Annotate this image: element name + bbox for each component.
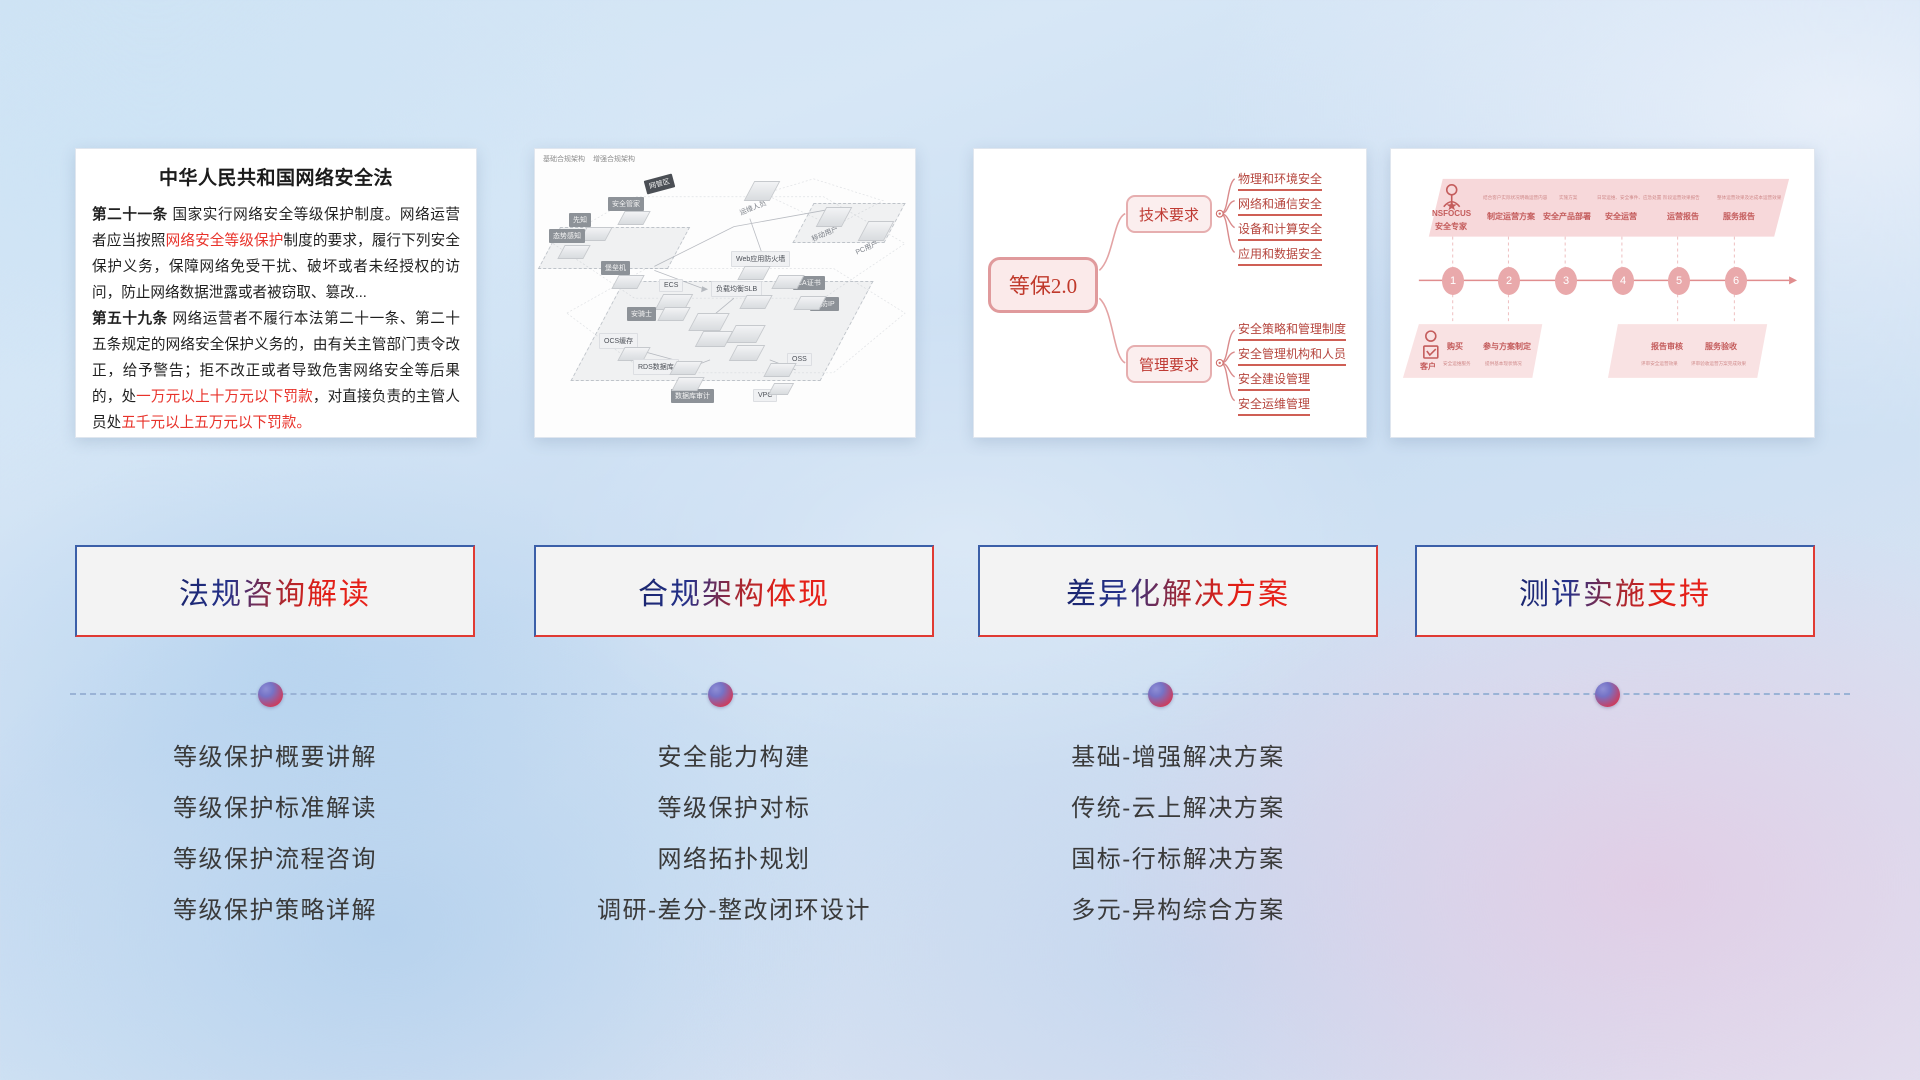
label-text-regulation-consulting: 法规咨询解读 — [179, 569, 371, 613]
detail-column-differentiated-solution: 基础-增强解决方案 传统-云上解决方案 国标-行标解决方案 多元-异构综合方案 — [978, 732, 1378, 936]
process-node-2: 2 — [1498, 267, 1520, 295]
mindmap-leaf-network-security: 网络和通信安全 — [1238, 196, 1322, 216]
process-step4-sub: 阶段运营效果报告 — [1663, 195, 1700, 201]
process-node-3: 3 — [1555, 267, 1577, 295]
arch-node-态势感知: 态势感知 — [549, 229, 585, 243]
list-item: 基础-增强解决方案 — [978, 732, 1378, 783]
mindmap-leaf-physical-security: 物理和环境安全 — [1238, 171, 1322, 191]
list-item: 安全能力构建 — [534, 732, 934, 783]
article-59-label: 第五十九条 — [92, 311, 168, 327]
article-21-label: 第二十一条 — [92, 207, 168, 223]
process-node-1: 1 — [1442, 267, 1464, 295]
timeline-track — [70, 693, 1850, 697]
list-item: 等级保护策略详解 — [75, 885, 475, 936]
list-item: 多元-异构综合方案 — [978, 885, 1378, 936]
label-box-compliance-architecture[interactable]: 合规架构体现 — [534, 545, 934, 637]
mindmap-root: 等保2.0 — [988, 257, 1098, 313]
category-label-row: 法规咨询解读 合规架构体现 差异化解决方案 测评实施支持 — [0, 545, 1920, 637]
label-text-compliance-architecture: 合规架构体现 — [638, 569, 830, 613]
timeline-dot-1[interactable] — [258, 682, 283, 707]
detail-column-regulation-consulting: 等级保护概要讲解 等级保护标准解读 等级保护流程咨询 等级保护策略详解 — [75, 732, 475, 936]
card-mlps-mindmap[interactable]: 等保2.0 技术要求 物理和环境安全 网络和通信安全 设备和计算安全 应用和数据… — [973, 148, 1367, 438]
process-step1-title: 制定运营方案 — [1487, 211, 1535, 222]
list-item: 等级保护标准解读 — [75, 783, 475, 834]
article-59-highlight-2: 五千元以上五万元以下罚款。 — [121, 415, 311, 431]
illustration-card-row: 中华人民共和国网络安全法 第二十一条 国家实行网络安全等级保护制度。网络运营者应… — [0, 148, 1920, 448]
law-article-21: 第二十一条 国家实行网络安全等级保护制度。网络运营者应当按照网络安全等级保护制度… — [92, 202, 460, 306]
process-acceptance-title: 服务验收 — [1705, 341, 1737, 352]
list-item: 等级保护流程咨询 — [75, 834, 475, 885]
process-diagram: NSFOCUS 安全专家 结合客户实际状况明确运营内容 制定运营方案 实施方案 … — [1391, 149, 1814, 437]
card-cybersecurity-law[interactable]: 中华人民共和国网络安全法 第二十一条 国家实行网络安全等级保护制度。网络运营者应… — [75, 148, 477, 438]
arch-node-先知: 先知 — [569, 213, 591, 227]
timeline-dot-2[interactable] — [708, 682, 733, 707]
process-step3-sub: 日常运维、安全事件、应急处置 — [1597, 195, 1661, 201]
list-item: 传统-云上解决方案 — [978, 783, 1378, 834]
process-customer-label: 客户 — [1420, 361, 1436, 372]
mindmap-leaf-operations-mgmt: 安全运维管理 — [1238, 396, 1310, 416]
article-21-highlight: 网络安全等级保护 — [166, 233, 284, 249]
arch-node-安骑士: 安骑士 — [627, 307, 656, 321]
process-expert-label: NSFOCUS — [1432, 209, 1471, 218]
card-compliance-architecture[interactable]: 基础合规架构 增强合规架构 — [534, 148, 916, 438]
list-item: 等级保护对标 — [534, 783, 934, 834]
mindmap-leaf-security-policy: 安全策略和管理制度 — [1238, 321, 1346, 341]
article-59-highlight-1: 一万元以上十万元以下罚款 — [136, 389, 313, 405]
label-text-differentiated-solution: 差异化解决方案 — [1066, 569, 1290, 613]
mindmap-leaf-device-security: 设备和计算安全 — [1238, 221, 1322, 241]
timeline-dashed-line — [70, 693, 1850, 695]
process-step5-sub: 整体运营效果及达成本运营效果 — [1717, 195, 1781, 201]
process-review-sub: 评审安全运营效果 — [1641, 361, 1678, 367]
label-box-regulation-consulting[interactable]: 法规咨询解读 — [75, 545, 475, 637]
detail-column-row: 等级保护概要讲解 等级保护标准解读 等级保护流程咨询 等级保护策略详解 安全能力… — [0, 732, 1920, 972]
list-item: 网络拓扑规划 — [534, 834, 934, 885]
card-service-process[interactable]: NSFOCUS 安全专家 结合客户实际状况明确运营内容 制定运营方案 实施方案 … — [1390, 148, 1815, 438]
process-node-5: 5 — [1668, 267, 1690, 295]
timeline-dot-4[interactable] — [1595, 682, 1620, 707]
process-review-title: 报告审核 — [1651, 341, 1683, 352]
list-item: 调研-差分-整改闭环设计 — [534, 885, 934, 936]
arch-node-安全管家: 安全管家 — [608, 197, 644, 211]
process-node-4: 4 — [1612, 267, 1634, 295]
detail-column-compliance-architecture: 安全能力构建 等级保护对标 网络拓扑规划 调研-差分-整改闭环设计 — [534, 732, 934, 936]
list-item: 国标-行标解决方案 — [978, 834, 1378, 885]
label-text-assessment-support: 测评实施支持 — [1519, 569, 1711, 613]
mindmap-branch-management: 管理要求 — [1126, 345, 1212, 383]
architecture-diagram: 基础合规架构 增强合规架构 — [535, 149, 915, 437]
arch-node-数据库审计: 数据库审计 — [671, 389, 714, 403]
mindmap-leaf-application-security: 应用和数据安全 — [1238, 246, 1322, 266]
arch-node-堡垒机: 堡垒机 — [601, 261, 630, 275]
process-step3-title: 安全运营 — [1605, 211, 1637, 222]
arch-node-ecs: ECS — [659, 279, 683, 292]
label-box-assessment-support[interactable]: 测评实施支持 — [1415, 545, 1815, 637]
process-step4-title: 运营报告 — [1667, 211, 1699, 222]
mindmap-leaf-security-org: 安全管理机构和人员 — [1238, 346, 1346, 366]
process-step2-sub: 实施方案 — [1559, 195, 1577, 201]
law-title: 中华人民共和国网络安全法 — [92, 163, 460, 190]
timeline-dot-3[interactable] — [1148, 682, 1173, 707]
process-step2-title: 安全产品部署 — [1543, 211, 1591, 222]
arch-node-web应用防火墙: Web应用防火墙 — [731, 251, 790, 267]
process-node-6: 6 — [1725, 267, 1747, 295]
process-participate-sub: 提供基本现状情况 — [1485, 361, 1522, 367]
law-body: 中华人民共和国网络安全法 第二十一条 国家实行网络安全等级保护制度。网络运营者应… — [76, 149, 476, 438]
process-expert-sublabel: 安全专家 — [1435, 221, 1467, 232]
process-purchase-sub: 安全运维服务 — [1443, 361, 1471, 367]
process-purchase-title: 购买 — [1447, 341, 1463, 352]
law-article-59: 第五十九条 网络运营者不履行本法第二十一条、第二十五条规定的网络安全保护义务的，… — [92, 306, 460, 436]
process-participate-title: 参与方案制定 — [1483, 341, 1531, 352]
label-box-differentiated-solution[interactable]: 差异化解决方案 — [978, 545, 1378, 637]
process-step5-title: 服务报告 — [1723, 211, 1755, 222]
process-step1-sub: 结合客户实际状况明确运营内容 — [1483, 195, 1547, 201]
process-acceptance-sub: 评审验收运营方案完成效果 — [1691, 361, 1746, 367]
list-item: 等级保护概要讲解 — [75, 732, 475, 783]
mindmap: 等保2.0 技术要求 物理和环境安全 网络和通信安全 设备和计算安全 应用和数据… — [974, 149, 1366, 437]
mindmap-leaf-construction-mgmt: 安全建设管理 — [1238, 371, 1310, 391]
mindmap-branch-technical: 技术要求 — [1126, 195, 1212, 233]
